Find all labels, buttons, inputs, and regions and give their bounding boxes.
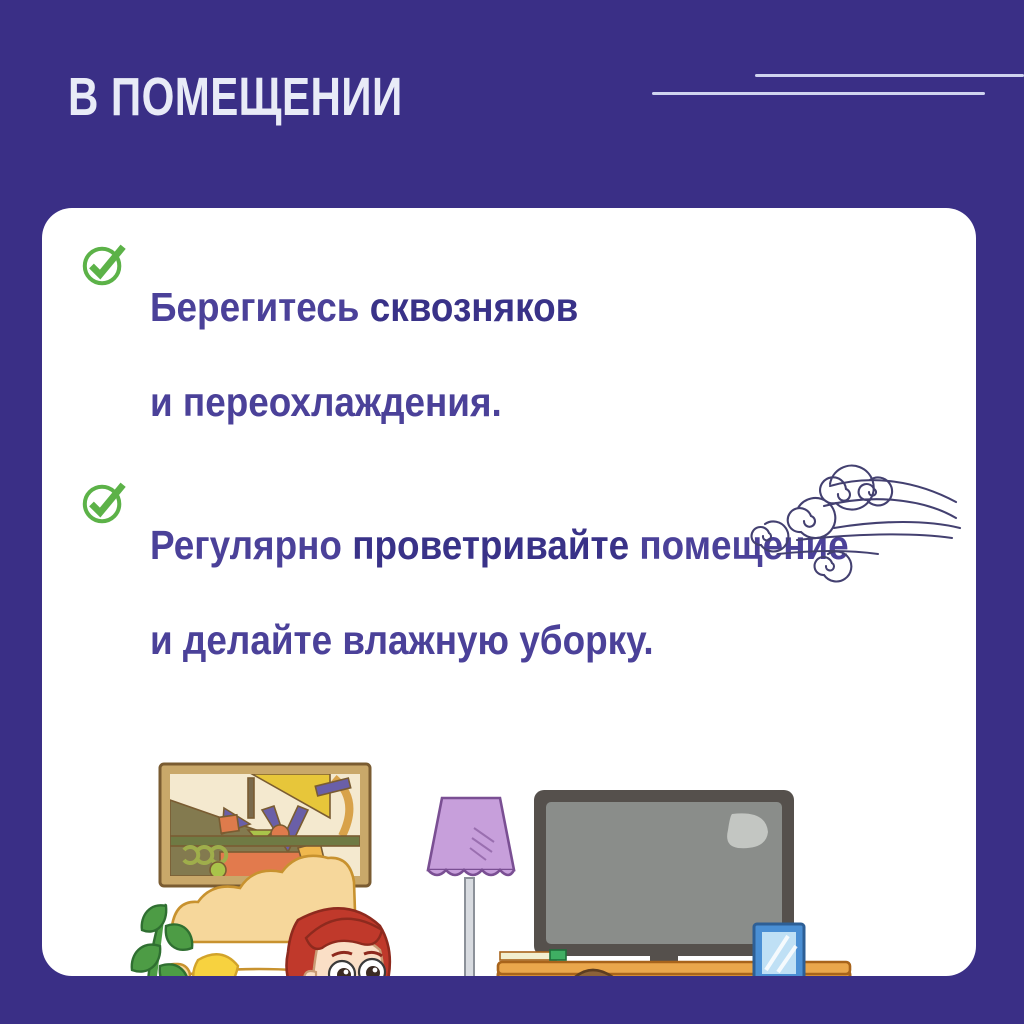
- bullet-1-line1-prefix: Берегитесь: [150, 284, 370, 330]
- bullet-2-line2: и делайте влажную уборку.: [150, 617, 654, 663]
- wind-swirl-icon: [742, 436, 972, 586]
- content-card: Берегитесь сквозняков и переохлаждения. …: [42, 208, 976, 976]
- purple-floor-lamp: [425, 798, 514, 976]
- list-item: Берегитесь сквозняков и переохлаждения.: [72, 236, 952, 426]
- page-title: В ПОМЕЩЕНИИ: [68, 70, 403, 124]
- check-circle-icon: [80, 242, 126, 288]
- bullet-1-line2: и переохлаждения.: [150, 379, 502, 425]
- header-rule-top: [755, 74, 1024, 77]
- girl-with-vacuum-cleaner: [287, 908, 453, 976]
- check-circle-icon: [80, 480, 126, 526]
- yellow-pillow: [193, 954, 238, 976]
- living-room-cleaning-illustration: [102, 748, 902, 976]
- bullet-2-line1-prefix: Регулярно: [150, 522, 352, 568]
- bullet-1-line1-bold: сквозняков: [370, 284, 579, 330]
- header-rule-bottom: [652, 92, 985, 95]
- bullet-text-1: Берегитесь сквозняков и переохлаждения.: [150, 236, 872, 426]
- picture-frame: [754, 924, 804, 976]
- bullet-2-line1-bold: проветривайте: [352, 522, 629, 568]
- poster-root: В ПОМЕЩЕНИИ Берегитесь сквозняков и пере…: [0, 0, 1024, 1024]
